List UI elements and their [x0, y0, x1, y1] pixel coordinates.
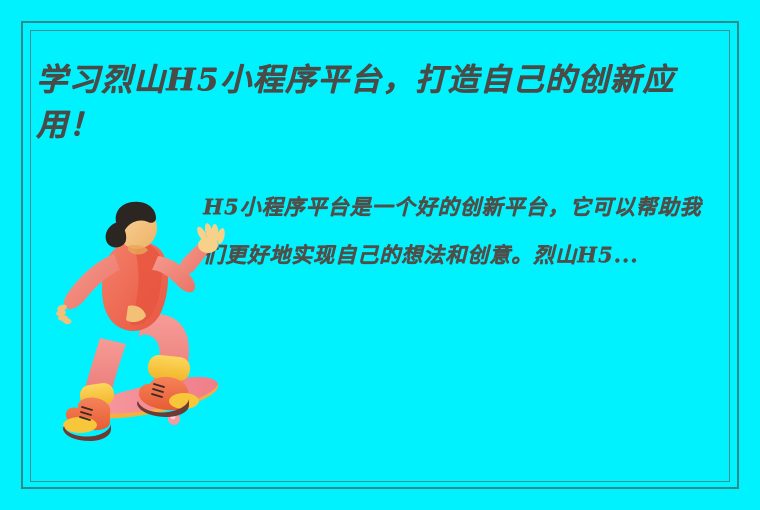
page-title: 学习烈山H5小程序平台，打造自己的创新应用！ [36, 58, 726, 148]
front-leg-shape [137, 314, 199, 417]
head-shape [106, 202, 157, 249]
back-leg-shape [63, 338, 126, 441]
body-paragraph: H5小程序平台是一个好的创新平台，它可以帮助我们更好地实现自己的想法和创意。烈山… [203, 183, 703, 279]
skateboarder-illustration [32, 198, 232, 450]
waving-hand-shape [195, 222, 226, 253]
promo-card: 学习烈山H5小程序平台，打造自己的创新应用！ H5小程序平台是一个好的创新平台，… [0, 0, 760, 510]
